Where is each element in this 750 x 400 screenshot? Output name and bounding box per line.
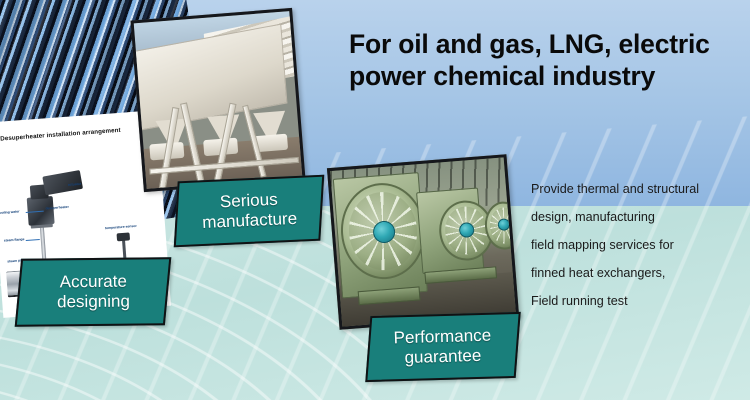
diagram-title: Desuperheater installation arrangement — [0, 125, 150, 143]
diagram-label-cooling-water: cooling water — [0, 209, 20, 215]
product-banner: Desuperheater installation arrangement c… — [0, 0, 750, 400]
body-line: Field running test — [531, 288, 750, 316]
photo-card-air-cooler — [131, 8, 306, 192]
caption-line-2: guarantee — [405, 346, 482, 367]
diagram-label-steam-flange: steam flange — [4, 237, 25, 243]
caption-line-2: designing — [57, 292, 130, 312]
caption-line-2: manufacture — [202, 209, 298, 232]
caption-performance-guarantee: Performance guarantee — [365, 312, 520, 382]
banner-headline: For oil and gas, LNG, electric power che… — [349, 28, 739, 93]
body-line: design, manufacturing — [531, 204, 750, 232]
diagram-leader-steam-flange — [26, 239, 40, 241]
diagram-label-temperature-sensor: temperature sensor — [105, 224, 137, 230]
caption-line-1: Performance — [394, 326, 492, 348]
body-line: field mapping services for — [531, 232, 750, 260]
banner-body-copy: Provide thermal and structural design, m… — [531, 176, 750, 316]
diagram-label-desuperheater: desuperheater — [45, 205, 69, 211]
caption-serious-manufacture: Serious manufacture — [174, 175, 324, 248]
caption-accurate-designing: Accurate designing — [15, 257, 172, 327]
caption-line-1: Serious — [219, 190, 278, 212]
body-line: Provide thermal and structural — [531, 176, 750, 204]
caption-line-1: Accurate — [59, 272, 126, 292]
photo-card-axial-fans — [327, 154, 519, 330]
diagram-temperature-sensor-head — [117, 232, 131, 241]
body-line: finned heat exchangers, — [531, 260, 750, 288]
